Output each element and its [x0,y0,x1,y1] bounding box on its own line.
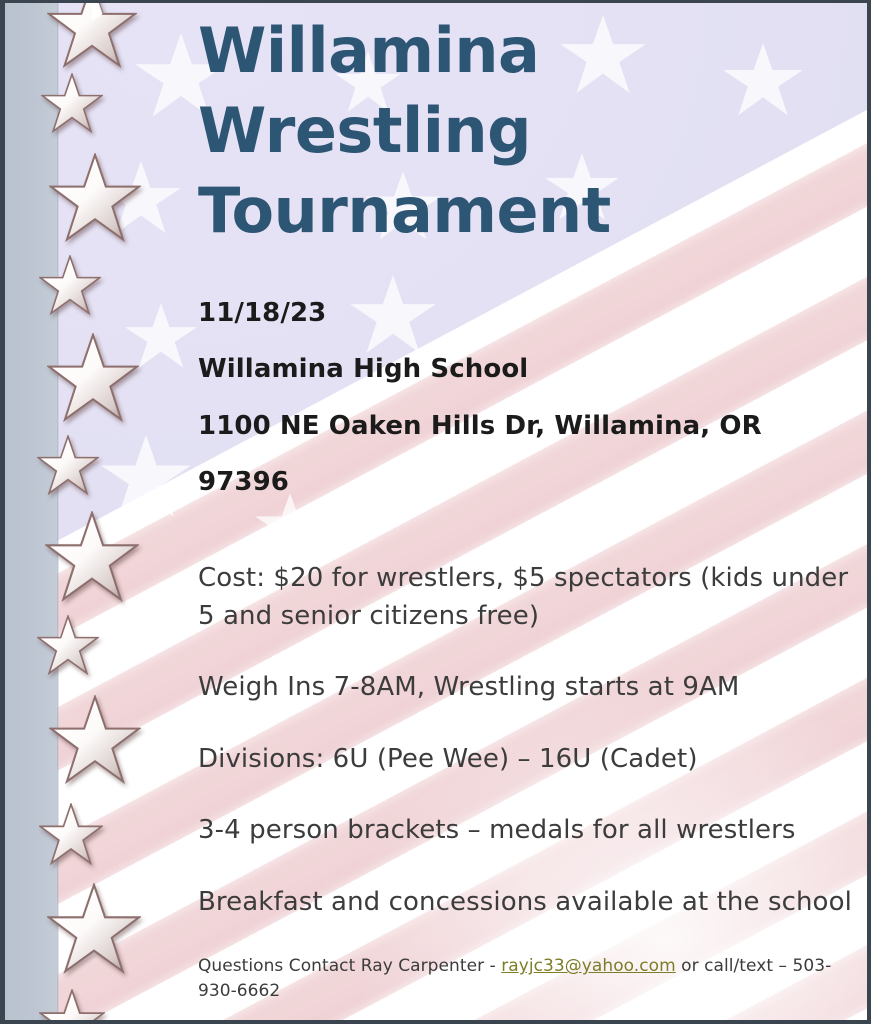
flyer-content: Willamina Wrestling Tournament 11/18/23 … [198,3,858,1020]
contact-prefix: Questions Contact Ray Carpenter - [198,956,501,976]
event-address: 1100 NE Oaken Hills Dr, Willamina, OR [198,398,858,454]
border-star-icon [41,73,103,135]
detail-divisions: Divisions: 6U (Pee Wee) – 16U (Cadet) [198,740,858,778]
detail-cost: Cost: $20 for wrestlers, $5 spectators (… [198,559,858,636]
border-star-icon [49,695,141,787]
border-star-icon [39,803,103,867]
border-star-icon [47,0,137,71]
border-star-icon [39,989,105,1024]
event-details-block: Cost: $20 for wrestlers, $5 spectators (… [198,559,858,922]
title-line-1: Willamina [198,11,858,91]
border-star-icon [37,615,99,677]
event-zip: 97396 [198,454,858,510]
border-star-icon [49,153,141,245]
event-date: 11/18/23 [198,285,858,341]
detail-brackets: 3-4 person brackets – medals for all wre… [198,811,858,849]
detail-schedule: Weigh Ins 7-8AM, Wrestling starts at 9AM [198,668,858,706]
star-border-column [5,3,155,1020]
border-star-icon [47,883,141,977]
title-line-2: Wrestling [198,91,858,171]
event-meta-block: 11/18/23 Willamina High School 1100 NE O… [198,285,858,511]
border-star-icon [39,255,101,317]
title-line-3: Tournament [198,171,858,251]
border-star-icon [37,435,99,497]
page-title: Willamina Wrestling Tournament [198,3,858,251]
border-star-icon [47,333,139,425]
flyer-page: Willamina Wrestling Tournament 11/18/23 … [0,0,871,1024]
event-venue: Willamina High School [198,341,858,397]
contact-email-link[interactable]: rayjc33@yahoo.com [501,956,676,976]
detail-concessions: Breakfast and concessions available at t… [198,883,858,921]
border-star-icon [45,511,139,605]
contact-line: Questions Contact Ray Carpenter - rayjc3… [198,954,858,1004]
